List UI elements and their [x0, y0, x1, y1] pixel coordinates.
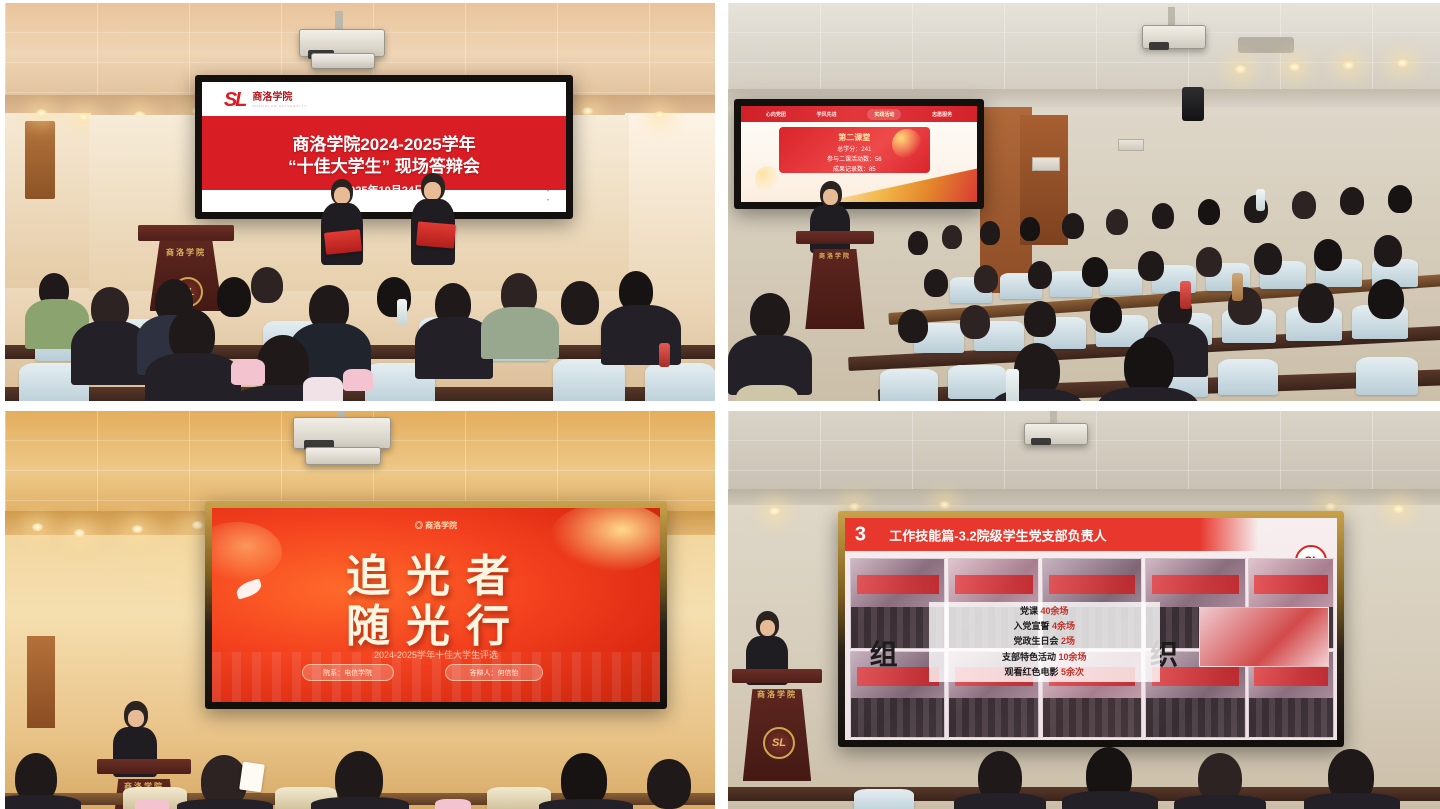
backpack: [736, 385, 798, 401]
wall-sign: [1118, 139, 1144, 151]
water-bottle: [659, 343, 670, 367]
slide-section-bar: 3 工作技能篇-3.2院级学生党支部负责人: [845, 518, 1337, 551]
collage-tile-highlight: [1199, 607, 1329, 667]
panel-bottom-right: 3 工作技能篇-3.2院级学生党支部负责人 SL 组: [728, 411, 1440, 809]
slide-nav-tabs: 心向党团 学风先进 实践活动 志愿服务: [741, 106, 977, 122]
wall-sign: [1032, 157, 1060, 171]
poster-line-2: 随光行: [212, 590, 660, 654]
wall-speaker: [1182, 87, 1204, 121]
screen-frame: 3 工作技能篇-3.2院级学生党支部负责人 SL 组: [838, 511, 1344, 747]
screen-frame: SL 商洛学院 SHANGLUO UNIVERSITY 商洛学院2024-202…: [195, 75, 573, 219]
track-light: [1234, 65, 1247, 74]
water-bottle: [1006, 369, 1019, 401]
section-title: 工作技能篇-3.2院级学生党支部负责人: [889, 525, 1106, 544]
slide-tab-2: 学风先进: [817, 111, 837, 118]
red-folder: [324, 229, 362, 255]
projector-secondary: [305, 447, 381, 465]
slide-stats: 党课 40余场 入党宣誓 4余场 党政生日会 2场 支部特色活动: [929, 602, 1160, 682]
pink-bag: [343, 369, 373, 391]
water-bottle: [1256, 189, 1265, 211]
water-bottle: [1180, 281, 1191, 309]
track-light: [35, 109, 48, 118]
pink-item: [135, 799, 169, 809]
red-folder: [416, 221, 456, 248]
section-number: 3: [855, 523, 866, 546]
panel-bottom-left: ◎ 商洛学院 追光者 随光行 2024-2025学年十佳大学生评选 院系：电信学…: [5, 411, 715, 809]
audience-area: [5, 741, 715, 809]
presentation-screen: 3 工作技能篇-3.2院级学生党支部负责人 SL 组: [845, 518, 1337, 740]
water-bottle: [397, 299, 407, 325]
track-light: [768, 507, 781, 516]
photo-collage: SL 商洛学院 SHANGLUO UNIVERSITY 商洛学院2024-202…: [0, 0, 1440, 809]
presentation-screen: SL 商洛学院 SHANGLUO UNIVERSITY 商洛学院2024-202…: [202, 82, 566, 212]
slide-heading-line2: “十佳大学生” 现场答辩会: [202, 152, 566, 177]
track-light: [191, 521, 204, 530]
side-door: [27, 636, 55, 728]
screen-frame: ◎ 商洛学院 追光者 随光行 2024-2025学年十佳大学生评选 院系：电信学…: [205, 501, 667, 709]
side-door: [25, 121, 55, 199]
track-light: [653, 111, 666, 120]
stat-line: 支部特色活动 10余场: [929, 650, 1160, 663]
slide-date: 2025年10月24日: [202, 182, 566, 198]
logo-subtitle: SHANGLUO UNIVERSITY: [252, 105, 307, 108]
stat-line: 入党宣誓 4余场: [929, 619, 1160, 632]
track-light: [1342, 61, 1355, 70]
logo-name: 商洛学院: [252, 93, 307, 103]
host-right: [411, 173, 455, 265]
track-light: [73, 529, 86, 538]
track-light: [1396, 59, 1409, 68]
projector-secondary: [311, 53, 375, 69]
poster-pill-department: 院系：电信学院: [302, 664, 394, 681]
panel-top-right: 心向党团 学风先进 实践活动 志愿服务 第二课堂 总学分：241 参与二课活动数…: [728, 3, 1440, 401]
water-bottle: [1232, 273, 1243, 301]
card-line-3: 成果记录数：85: [779, 164, 930, 173]
presentation-screen: ◎ 商洛学院 追光者 随光行 2024-2025学年十佳大学生评选 院系：电信学…: [212, 508, 660, 702]
decorative-swoosh: [892, 129, 922, 159]
university-logo: SL 商洛学院 SHANGLUO UNIVERSITY: [224, 89, 307, 112]
panel-top-left: SL 商洛学院 SHANGLUO UNIVERSITY 商洛学院2024-202…: [5, 3, 715, 401]
stat-line: 党政生日会 2场: [929, 634, 1160, 647]
big-char-left: 组: [870, 633, 898, 673]
handbag: [303, 377, 343, 401]
host-left: [321, 179, 363, 265]
logo-mark: SL: [224, 89, 246, 112]
track-light: [938, 501, 951, 510]
ceiling: [728, 3, 1440, 89]
poster-pill-presenter: 答辩人：何信怡: [445, 664, 543, 681]
pink-item: [435, 799, 471, 809]
slide-background: ◎ 商洛学院 追光者 随光行 2024-2025学年十佳大学生评选 院系：电信学…: [212, 508, 660, 702]
pink-bag: [231, 359, 265, 385]
track-light: [1392, 505, 1405, 514]
slide-background: SL 商洛学院 SHANGLUO UNIVERSITY 商洛学院2024-202…: [202, 82, 566, 212]
decorative-photo-strip: [212, 652, 660, 702]
track-light: [131, 525, 144, 534]
podium-label: 商洛学院: [138, 247, 234, 258]
slide-tab-4: 志愿服务: [932, 111, 952, 118]
stat-line: 党课 40余场: [929, 604, 1160, 617]
paper-sheet: [239, 762, 265, 793]
projector: [1142, 25, 1206, 49]
track-light: [1288, 63, 1301, 72]
slide-tab-3: 实践活动: [867, 109, 901, 120]
slide-background: 3 工作技能篇-3.2院级学生党支部负责人 SL 组: [845, 518, 1337, 740]
track-light: [31, 523, 44, 532]
stat-line: 观看红色电影 5余次: [929, 665, 1160, 678]
decorative-calligraphy: ・ ・ ・: [542, 178, 552, 203]
projector: [293, 417, 391, 449]
podium-label: 商洛学院: [732, 689, 822, 700]
audience-area: [728, 173, 1440, 401]
slide-tab-1: 心向党团: [766, 111, 786, 118]
audience-area: [5, 259, 715, 401]
audience-area: [728, 741, 1440, 809]
ceiling-vent: [1238, 37, 1294, 53]
projector: [1024, 423, 1088, 445]
university-logo: ◎ 商洛学院: [212, 520, 660, 531]
